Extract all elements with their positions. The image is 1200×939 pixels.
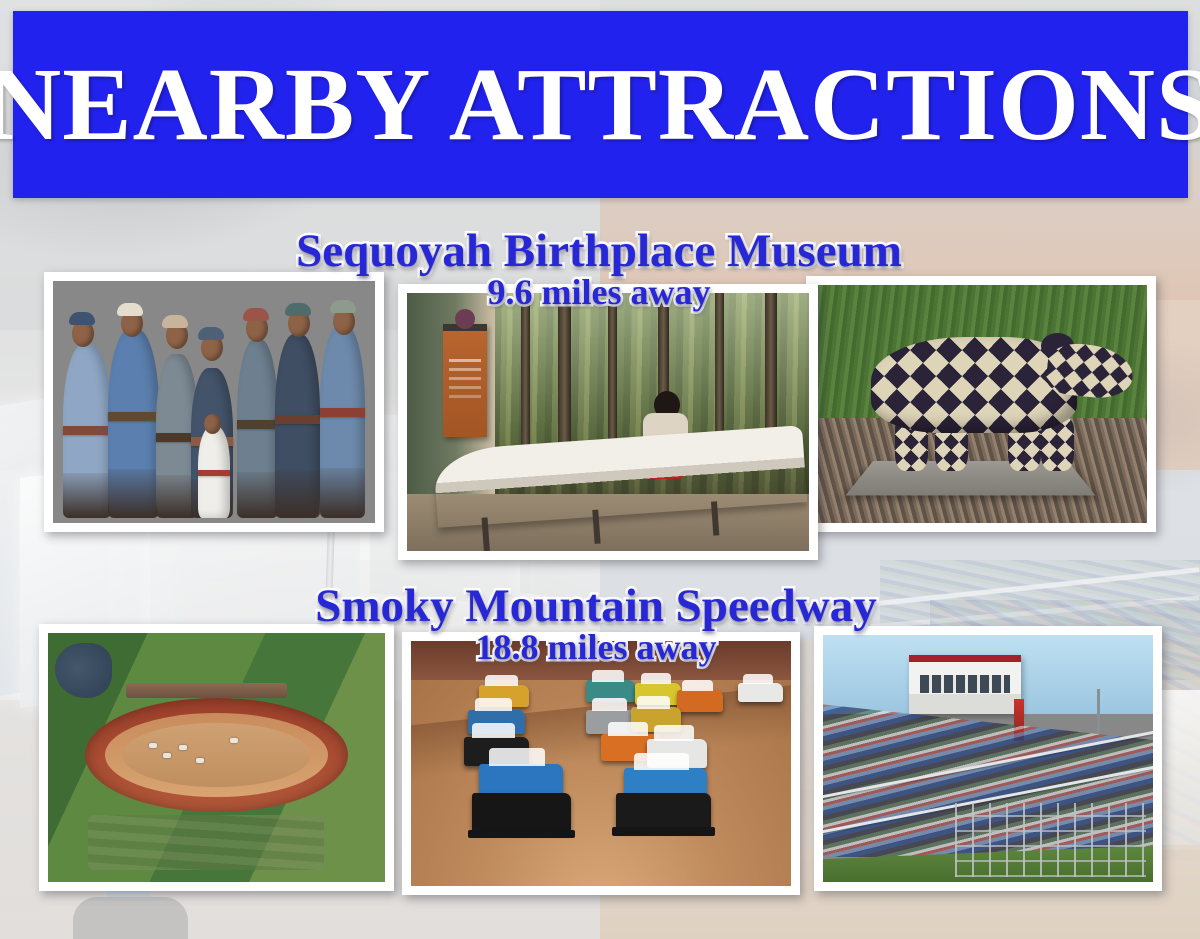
- grandstand-image: [823, 635, 1153, 882]
- infield-vehicle: [230, 738, 238, 743]
- race-car-front: [616, 793, 711, 830]
- car-spoiler: [468, 830, 575, 839]
- exhibit-info-panel: [443, 324, 487, 438]
- panel-text-lines: [449, 359, 481, 362]
- case-leg: [593, 509, 601, 543]
- mural-headwrap: [162, 315, 188, 328]
- photo-race-cars: [402, 632, 800, 895]
- race-cars-image: [411, 641, 791, 886]
- infield-vehicle: [196, 758, 204, 763]
- car-roof: [485, 675, 518, 686]
- mural-sash: [320, 408, 365, 417]
- car-roof: [592, 698, 627, 711]
- track-grandstand: [126, 683, 288, 698]
- photo-grandstand: [814, 626, 1162, 891]
- mural-legs: [320, 468, 365, 518]
- chain-link-fence: [955, 803, 1146, 877]
- mural-headwrap: [69, 312, 95, 325]
- mural-tree-trunk: [608, 293, 617, 462]
- infield-vehicle: [179, 745, 187, 750]
- mural-headwrap: [198, 327, 224, 340]
- car-roof: [475, 698, 513, 711]
- mural-figure-group: [53, 281, 375, 523]
- infield-vehicle: [149, 743, 157, 748]
- car-roof: [489, 748, 544, 766]
- museum-exhibit-image: [407, 293, 809, 551]
- pit-area: [88, 815, 324, 870]
- car-roof: [641, 673, 671, 684]
- photo-cherokee-mural: [44, 272, 384, 532]
- mural-sash: [275, 415, 320, 424]
- case-leg: [482, 516, 490, 550]
- car-spoiler: [612, 827, 715, 835]
- infield-vehicle: [163, 753, 171, 758]
- pond: [55, 643, 112, 698]
- mural-headwrap: [285, 303, 311, 316]
- race-car: [677, 690, 723, 712]
- aerial-track-image: [48, 633, 385, 882]
- mural-legs: [275, 470, 320, 518]
- control-tower: [909, 655, 1021, 714]
- figure-body: [73, 897, 188, 939]
- mural-legs: [108, 469, 160, 518]
- panel-medallion-icon: [455, 309, 475, 329]
- mural-sash: [108, 412, 160, 421]
- mural-figure: [63, 344, 111, 518]
- car-roof: [682, 680, 712, 691]
- mural-headwrap: [243, 308, 269, 321]
- mural-sash: [237, 420, 279, 429]
- mural-child-figure: [198, 426, 230, 518]
- mural-sash: [63, 426, 111, 435]
- car-roof: [654, 725, 694, 740]
- title-banner: NEARBY ATTRACTIONS: [13, 11, 1188, 198]
- slide-canvas: NEARBY ATTRACTIONS: [0, 0, 1200, 939]
- race-car: [738, 683, 784, 703]
- car-roof: [637, 696, 670, 709]
- photo-museum-exhibit: [398, 284, 818, 560]
- photo-bear-sculpture: [806, 276, 1156, 532]
- page-title: NEARBY ATTRACTIONS: [0, 53, 1200, 157]
- mural-legs: [63, 473, 111, 518]
- mural-headwrap: [117, 303, 143, 316]
- car-roof: [634, 753, 689, 771]
- race-car-front: [472, 793, 571, 832]
- mural-figure: [108, 329, 160, 518]
- mural-figure: [275, 334, 320, 518]
- mural-legs: [237, 472, 279, 519]
- car-roof: [592, 670, 625, 681]
- cherokee-mural-image: [53, 281, 375, 523]
- photo-aerial-track: [39, 624, 394, 891]
- tower-windows: [920, 675, 1010, 693]
- car-roof: [743, 674, 773, 684]
- mural-figure: [237, 339, 279, 518]
- track-infield: [122, 723, 311, 788]
- mural-sash: [198, 470, 230, 476]
- car-roof: [608, 722, 648, 736]
- car-roof: [472, 723, 515, 738]
- mural-tree-trunk: [521, 293, 530, 462]
- mural-figure: [320, 325, 365, 519]
- mural-tree-trunk: [558, 293, 571, 462]
- mural-headwrap: [330, 300, 356, 313]
- bear-sculpture-image: [815, 285, 1147, 523]
